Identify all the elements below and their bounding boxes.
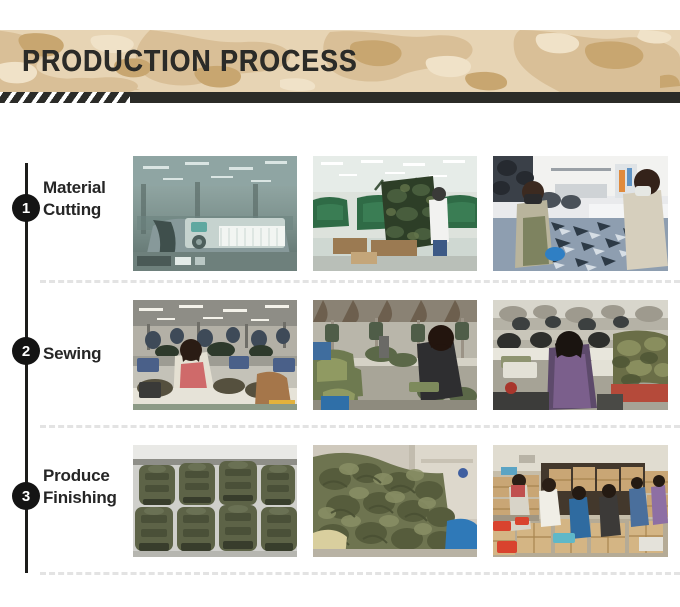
step-2-image-3[interactable] bbox=[493, 300, 668, 410]
finished-backpacks-photo bbox=[133, 445, 297, 557]
process-step-row: 1 Material Cutting bbox=[0, 150, 680, 275]
assembly-line-photo bbox=[493, 300, 668, 410]
step-number-badge: 1 bbox=[12, 194, 40, 222]
step-2-image-1[interactable] bbox=[133, 300, 297, 410]
packing-area-photo bbox=[493, 445, 668, 557]
step-3-image-1[interactable] bbox=[133, 445, 297, 557]
sewing-workstation-photo bbox=[313, 300, 477, 410]
step-2-image-2[interactable] bbox=[313, 300, 477, 410]
camouflage-fabric-inspection-photo bbox=[313, 156, 477, 271]
step-1-image-2[interactable] bbox=[313, 156, 477, 271]
weaving-machine-photo bbox=[133, 156, 297, 271]
step-1-image-3[interactable] bbox=[493, 156, 668, 271]
step-3-image-3[interactable] bbox=[493, 445, 668, 557]
step-label: Material Cutting bbox=[43, 177, 131, 221]
fabric-cutting-photo bbox=[493, 156, 668, 271]
step-number-badge: 2 bbox=[12, 337, 40, 365]
production-process-infographic: PRODUCTION PROCESS 1 Material Cutting bbox=[0, 0, 680, 607]
step-number-badge: 3 bbox=[12, 482, 40, 510]
step-label: Produce Finishing bbox=[43, 465, 131, 509]
process-step-row: 2 Sewing bbox=[0, 295, 680, 415]
process-steps-list: 1 Material Cutting bbox=[0, 0, 680, 607]
step-3-image-2[interactable] bbox=[313, 445, 477, 557]
step-1-image-1[interactable] bbox=[133, 156, 297, 271]
row-divider bbox=[40, 280, 680, 283]
row-divider bbox=[40, 572, 680, 575]
step-label: Sewing bbox=[43, 343, 131, 365]
sewing-line-photo bbox=[133, 300, 297, 410]
bulk-bags-pile-photo bbox=[313, 445, 477, 557]
row-divider bbox=[40, 425, 680, 428]
process-step-row: 3 Produce Finishing bbox=[0, 440, 680, 562]
